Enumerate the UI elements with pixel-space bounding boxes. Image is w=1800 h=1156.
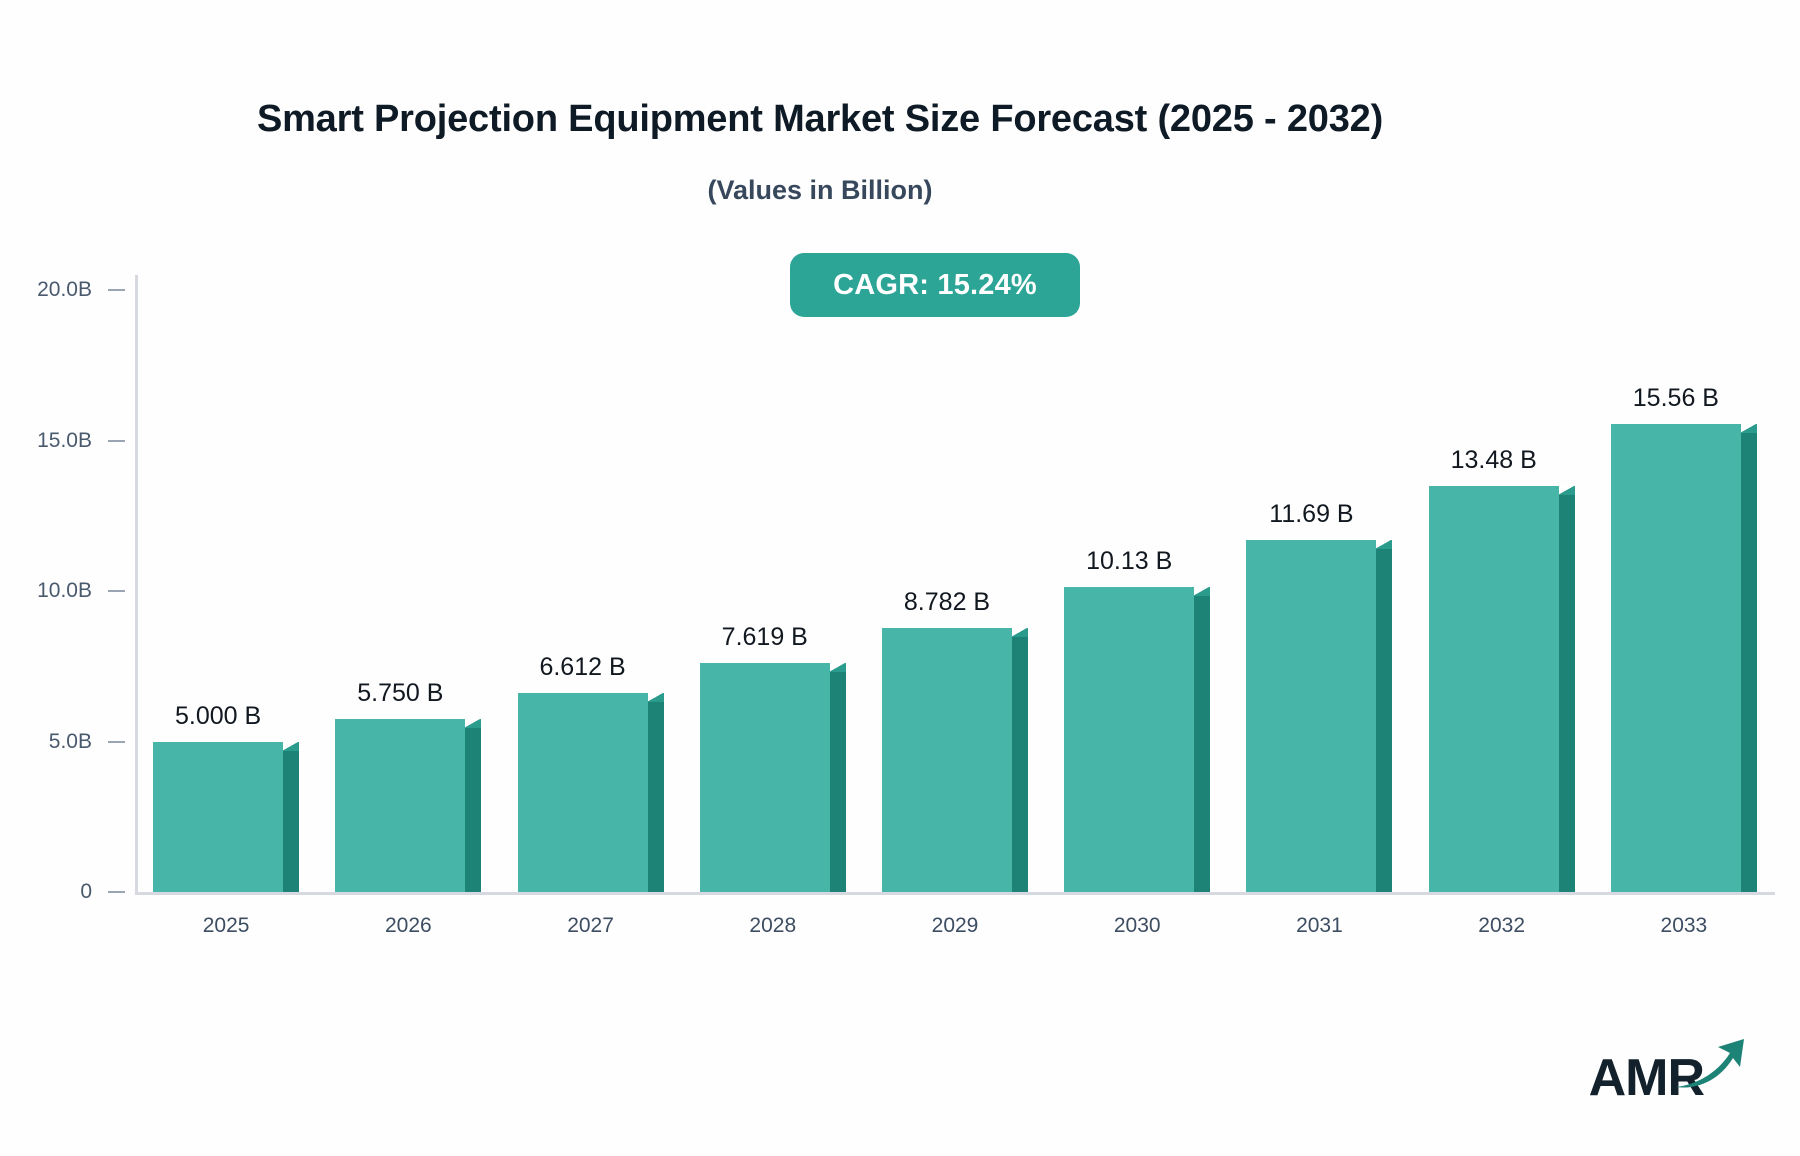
y-axis-tick: 0: [80, 880, 135, 904]
bar[interactable]: 5.000 B: [153, 742, 299, 893]
bar-top-bevel: [648, 693, 664, 702]
x-axis-tick-label: 2025: [153, 914, 299, 938]
bar[interactable]: 10.13 B: [1064, 587, 1210, 892]
bar-slot: 13.48 B2032: [1429, 290, 1575, 892]
bar[interactable]: 15.56 B: [1611, 424, 1757, 892]
y-axis-tick-mark: [108, 590, 125, 592]
bar[interactable]: 7.619 B: [700, 663, 846, 892]
bar-slot: 5.000 B2025: [153, 290, 299, 892]
bar-face: [1429, 486, 1559, 892]
x-axis-tick-label: 2026: [335, 914, 481, 938]
bar-face: [1246, 540, 1376, 892]
bar-side-shadow: [283, 751, 299, 893]
bar-face: [335, 719, 465, 892]
bar-slot: 6.612 B2027: [518, 290, 664, 892]
bar[interactable]: 13.48 B: [1429, 486, 1575, 892]
bar-slot: 11.69 B2031: [1246, 290, 1392, 892]
y-axis-tick-mark: [108, 891, 125, 893]
bar-slot: 8.782 B2029: [882, 290, 1028, 892]
x-axis-tick-label: 2027: [518, 914, 664, 938]
x-axis-tick-label: 2032: [1429, 914, 1575, 938]
bar[interactable]: 11.69 B: [1246, 540, 1392, 892]
bar-face: [1611, 424, 1741, 892]
bar-face: [700, 663, 830, 892]
chart-subtitle: (Values in Billion): [0, 175, 1640, 206]
y-axis-tick-label: 5.0B: [49, 730, 92, 754]
bar[interactable]: 6.612 B: [518, 693, 664, 892]
bar[interactable]: 8.782 B: [882, 628, 1028, 892]
chart-canvas: Smart Projection Equipment Market Size F…: [0, 0, 1800, 1156]
bar-top-bevel: [1741, 424, 1757, 433]
y-axis-tick-label: 10.0B: [37, 579, 92, 603]
chart-title: Smart Projection Equipment Market Size F…: [0, 98, 1640, 141]
y-axis-tick-mark: [108, 741, 125, 743]
bar-value-label: 8.782 B: [882, 588, 1012, 617]
y-axis-tick: 15.0B: [37, 429, 135, 453]
bar-slot: 5.750 B2026: [335, 290, 481, 892]
bar-top-bevel: [1376, 540, 1392, 549]
y-axis-tick-label: 15.0B: [37, 429, 92, 453]
bar-side-shadow: [648, 702, 664, 892]
bar[interactable]: 5.750 B: [335, 719, 481, 892]
bar-face: [518, 693, 648, 892]
y-axis-tick: 20.0B: [37, 278, 135, 302]
bar-top-bevel: [1559, 486, 1575, 495]
bar-slot: 10.13 B2030: [1064, 290, 1210, 892]
bar-side-shadow: [1376, 549, 1392, 892]
y-axis-tick-mark: [108, 440, 125, 442]
y-axis-tick-mark: [108, 289, 125, 291]
y-axis-tick-label: 0: [80, 880, 92, 904]
bar-slot: 15.56 B2033: [1611, 290, 1757, 892]
x-axis-tick-label: 2028: [700, 914, 846, 938]
amr-logo: AMR: [1589, 1035, 1748, 1104]
bar-slot: 7.619 B2028: [700, 290, 846, 892]
bar-value-label: 11.69 B: [1246, 500, 1376, 529]
bar-face: [153, 742, 283, 893]
x-axis-tick-label: 2033: [1611, 914, 1757, 938]
x-axis-tick-label: 2029: [882, 914, 1028, 938]
bar-value-label: 6.612 B: [518, 653, 648, 682]
bar-side-shadow: [1194, 596, 1210, 892]
y-axis-tick-label: 20.0B: [37, 278, 92, 302]
bar-top-bevel: [283, 742, 299, 751]
bar-face: [882, 628, 1012, 892]
bar-face: [1064, 587, 1194, 892]
x-axis-tick-label: 2031: [1246, 914, 1392, 938]
growth-arrow-icon: [1674, 1035, 1748, 1098]
y-axis-tick: 10.0B: [37, 579, 135, 603]
bar-top-bevel: [830, 663, 846, 672]
bar-value-label: 13.48 B: [1429, 446, 1559, 475]
bar-side-shadow: [830, 672, 846, 892]
bar-top-bevel: [465, 719, 481, 728]
bar-top-bevel: [1194, 587, 1210, 596]
bar-side-shadow: [1012, 637, 1028, 892]
bar-value-label: 5.000 B: [153, 702, 283, 731]
bar-top-bevel: [1012, 628, 1028, 637]
bar-series: 5.000 B20255.750 B20266.612 B20277.619 B…: [135, 290, 1775, 892]
bar-value-label: 10.13 B: [1064, 547, 1194, 576]
bar-side-shadow: [1741, 433, 1757, 892]
plot-area: 05.0B10.0B15.0B20.0B 5.000 B20255.750 B2…: [135, 290, 1775, 895]
x-axis-line: [135, 892, 1775, 895]
bar-side-shadow: [465, 728, 481, 892]
bar-value-label: 5.750 B: [335, 679, 465, 708]
y-axis-tick: 5.0B: [49, 730, 135, 754]
bar-side-shadow: [1559, 495, 1575, 892]
bar-value-label: 15.56 B: [1611, 384, 1741, 413]
bar-value-label: 7.619 B: [700, 623, 830, 652]
x-axis-tick-label: 2030: [1064, 914, 1210, 938]
